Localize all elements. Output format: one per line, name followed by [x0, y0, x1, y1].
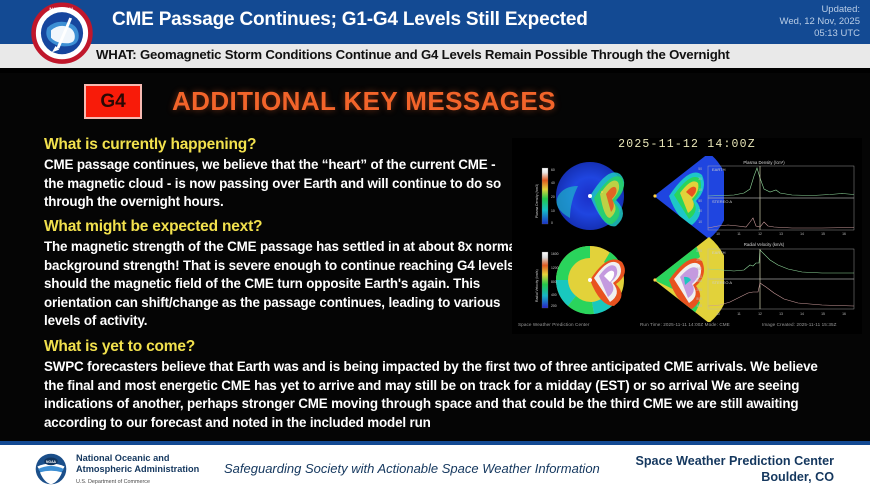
- svg-text:STEREO A: STEREO A: [712, 199, 732, 204]
- noaa-line-1: National Oceanic and: [76, 453, 199, 464]
- svg-text:14: 14: [800, 232, 804, 236]
- svg-text:11: 11: [737, 312, 741, 316]
- header-divider: [0, 68, 870, 73]
- svg-text:Radial Velocity (km/s): Radial Velocity (km/s): [744, 242, 785, 247]
- noaa-line-2: Atmospheric Administration: [76, 464, 199, 475]
- svg-text:800: 800: [551, 280, 557, 284]
- svg-text:12: 12: [758, 312, 762, 316]
- svg-text:20: 20: [551, 195, 555, 199]
- page-title: CME Passage Continues; G1-G4 Levels Stil…: [112, 9, 632, 31]
- section-body: SWPC forecasters believe that Earth was …: [44, 358, 834, 432]
- footer-center-name: Space Weather Prediction Center Boulder,…: [635, 453, 834, 485]
- svg-text:12: 12: [758, 232, 762, 236]
- footer-center-line-2: Boulder, CO: [635, 469, 834, 485]
- model-timestamp: 2025-11-12 14:00Z: [512, 138, 862, 151]
- model-plot-grid: 60 40 20 10 0 Plasma Density (/cm3) 1600…: [512, 156, 862, 322]
- svg-text:30: 30: [698, 209, 702, 213]
- svg-text:10: 10: [716, 312, 720, 316]
- updated-time: 05:13 UTC: [700, 28, 860, 40]
- svg-text:Radial Velocity (km/s): Radial Velocity (km/s): [535, 269, 539, 302]
- g4-status-badge: G4: [84, 84, 142, 119]
- svg-text:NOAA: NOAA: [46, 460, 57, 464]
- section-heading: What is currently happening?: [44, 136, 514, 154]
- svg-text:60: 60: [551, 168, 555, 172]
- subheadline: WHAT: Geomagnetic Storm Conditions Conti…: [96, 47, 856, 62]
- model-panel-footer: Space Weather Prediction Center Run Time…: [512, 322, 862, 332]
- svg-text:800: 800: [696, 297, 702, 301]
- svg-text:200: 200: [551, 304, 557, 308]
- noaa-wordmark: National Oceanic and Atmospheric Adminis…: [76, 453, 199, 487]
- section-body: The magnetic strength of the CME passage…: [44, 238, 524, 331]
- svg-text:800: 800: [696, 267, 702, 271]
- svg-text:50: 50: [698, 167, 702, 171]
- svg-text:EARTH: EARTH: [712, 250, 726, 255]
- svg-text:14: 14: [800, 312, 804, 316]
- svg-text:15: 15: [821, 232, 825, 236]
- svg-text:13: 13: [779, 312, 783, 316]
- model-footer-runtime: Run Time: 2025-11-11 14:00Z Mode: CME: [640, 322, 730, 327]
- section-heading: What might be expected next?: [44, 218, 524, 236]
- svg-text:16: 16: [842, 312, 846, 316]
- svg-text:NATIONAL: NATIONAL: [49, 6, 74, 12]
- noaa-seal-icon: NOAA: [34, 452, 68, 486]
- svg-text:STEREO A: STEREO A: [712, 280, 732, 285]
- nws-roundel-icon: NATIONAL: [26, 2, 98, 68]
- svg-text:400: 400: [551, 293, 557, 297]
- svg-text:50: 50: [698, 199, 702, 203]
- footer-center-line-1: Space Weather Prediction Center: [635, 453, 834, 469]
- svg-text:11: 11: [737, 232, 741, 236]
- key-messages-heading: ADDITIONAL KEY MESSAGES: [172, 86, 556, 117]
- svg-text:15: 15: [821, 312, 825, 316]
- section-body: CME passage continues, we believe that t…: [44, 156, 514, 212]
- svg-text:0: 0: [551, 221, 553, 225]
- svg-text:40: 40: [551, 181, 555, 185]
- svg-text:10: 10: [551, 209, 555, 213]
- updated-stamp: Updated: Wed, 12 Nov, 2025 05:13 UTC: [700, 4, 860, 40]
- svg-text:10: 10: [698, 220, 702, 224]
- svg-text:10: 10: [698, 188, 702, 192]
- updated-date: Wed, 12 Nov, 2025: [700, 16, 860, 28]
- svg-text:10: 10: [716, 232, 720, 236]
- velocity-polar-plot: [556, 246, 625, 314]
- section-heading: What is yet to come?: [44, 338, 834, 356]
- density-polar-plot: [556, 162, 624, 230]
- svg-text:1200: 1200: [551, 266, 559, 270]
- svg-text:1600: 1600: [551, 252, 559, 256]
- earth-marker-velocity: [653, 278, 656, 281]
- svg-text:400: 400: [696, 304, 702, 308]
- enlil-model-image: 2025-11-12 14:00Z: [512, 138, 862, 334]
- section-what-yet-to-come: What is yet to come? SWPC forecasters be…: [44, 338, 834, 432]
- svg-text:800: 800: [696, 249, 702, 253]
- svg-text:EARTH: EARTH: [712, 167, 726, 172]
- model-footer-created: Image Created: 2025-11-11 15:35Z: [762, 322, 837, 327]
- section-what-expected-next: What might be expected next? The magneti…: [44, 218, 524, 331]
- svg-text:16: 16: [842, 232, 846, 236]
- footer-tagline: Safeguarding Society with Actionable Spa…: [224, 461, 600, 476]
- earth-marker-density: [653, 194, 656, 197]
- svg-text:800: 800: [696, 279, 702, 283]
- svg-text:30: 30: [698, 177, 702, 181]
- swpc-key-messages-slide: CME Passage Continues; G1-G4 Levels Stil…: [0, 0, 870, 489]
- noaa-department: U.S. Department of Commerce: [76, 477, 199, 488]
- updated-label: Updated:: [700, 4, 860, 16]
- svg-text:200: 200: [696, 258, 702, 262]
- svg-text:200: 200: [696, 288, 702, 292]
- section-what-is-happening: What is currently happening? CME passage…: [44, 136, 514, 212]
- svg-text:Plasma Density (/cm3): Plasma Density (/cm3): [535, 184, 539, 218]
- svg-text:13: 13: [779, 232, 783, 236]
- model-footer-source: Space Weather Prediction Center: [518, 322, 589, 327]
- svg-text:Plasma Density (/cm³): Plasma Density (/cm³): [743, 160, 785, 165]
